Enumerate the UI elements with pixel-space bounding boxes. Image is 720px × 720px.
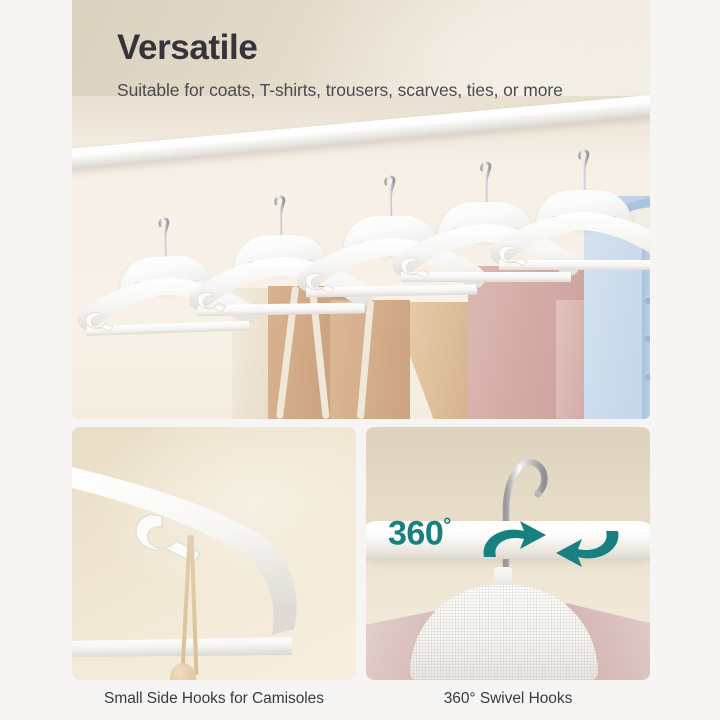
caption-side-hooks: Small Side Hooks for Camisoles [72, 684, 356, 714]
card-swivel-hooks: 360° [366, 427, 650, 680]
hanger-top-closeup [410, 585, 598, 680]
hanger-arm-closeup [72, 443, 356, 653]
page-subtitle: Suitable for coats, T-shirts, trousers, … [117, 80, 563, 101]
page-title: Versatile [117, 30, 257, 65]
feature-cards: 360° [72, 427, 650, 680]
hanger-front-bar-5 [489, 210, 650, 272]
hero-panel: Versatile Suitable for coats, T-shirts, … [72, 0, 650, 419]
rotation-arrows-icon [476, 513, 626, 575]
swivel-hook-2 [270, 196, 290, 239]
card-captions: Small Side Hooks for Camisoles 360° Swiv… [72, 684, 650, 716]
degree-symbol: ° [443, 515, 451, 537]
camisole-knot [170, 663, 196, 680]
cardigan-button [644, 372, 650, 380]
cardigan-button [644, 296, 650, 304]
caption-swivel-hooks: 360° Swivel Hooks [366, 684, 650, 714]
infographic-canvas: Versatile Suitable for coats, T-shirts, … [0, 0, 720, 720]
hanger-bar-5 [489, 210, 650, 272]
badge-360-swivel: 360° [388, 513, 628, 575]
badge-360-number: 360 [388, 514, 443, 552]
cardigan-button [644, 334, 650, 342]
swivel-hook-5 [574, 150, 594, 194]
card-side-hooks [72, 427, 356, 680]
badge-360-text: 360° [388, 516, 451, 550]
swivel-hook-1 [154, 218, 175, 261]
